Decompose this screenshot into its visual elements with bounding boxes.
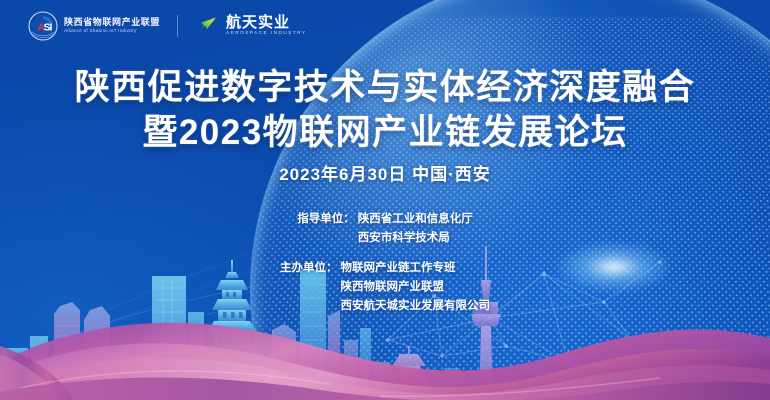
asi-alliance-emblem-icon: A S I: [28, 11, 58, 41]
asi-logo-text: 陕西省物联网产业联盟 Alliance of Shaanxi IoT Indus…: [64, 18, 160, 34]
date-location: 2023年6月30日 中国·西安: [0, 160, 770, 185]
header-logos: A S I 陕西省物联网产业联盟 Alliance of Shaanxi IoT…: [28, 11, 306, 41]
organizer-value: 陕西省工业和信息化厅: [358, 210, 473, 229]
organizers-block: 指导单位： 陕西省工业和信息化厅 西安市科学技术局 主办单位： 物联网产业链工作…: [0, 210, 770, 315]
organizer-value: 西安市科学技术局: [358, 229, 473, 248]
organizer-value: 物联网产业链工作专班: [341, 259, 491, 278]
organizer-value: 陕西物联网产业联盟: [341, 278, 491, 297]
organizer-label: 主办单位：: [280, 259, 338, 278]
aerospace-swoosh-icon: [195, 16, 219, 36]
aerospace-logo-text: 航天实业 AEROSPACE INDUSTRY: [226, 15, 306, 37]
page-title: 陕西促进数字技术与实体经济深度融合 暨2023物联网产业链发展论坛: [0, 66, 770, 156]
organizer-label: 指导单位：: [297, 210, 355, 229]
title-line-1: 陕西促进数字技术与实体经济深度融合: [75, 68, 696, 107]
organizer-values: 陕西省工业和信息化厅 西安市科学技术局: [358, 210, 473, 247]
title-line-2: 暨2023物联网产业链发展论坛: [0, 111, 770, 156]
asi-name-en: Alliance of Shaanxi IoT Industry: [64, 29, 160, 34]
aerospace-name-en: AEROSPACE INDUSTRY: [226, 32, 306, 37]
asi-name-cn: 陕西省物联网产业联盟: [64, 18, 160, 27]
svg-text:I: I: [50, 22, 53, 34]
poster-content: 陕西促进数字技术与实体经济深度融合 暨2023物联网产业链发展论坛 2023年6…: [0, 0, 770, 400]
organizer-values: 物联网产业链工作专班 陕西物联网产业联盟 西安航天城实业发展有限公司: [341, 259, 491, 315]
logo-asi-alliance[interactable]: A S I 陕西省物联网产业联盟 Alliance of Shaanxi IoT…: [28, 11, 160, 41]
aerospace-name-cn: 航天实业: [226, 15, 306, 30]
logo-aerospace-industry[interactable]: 航天实业 AEROSPACE INDUSTRY: [195, 15, 306, 37]
organizer-host: 主办单位： 物联网产业链工作专班 陕西物联网产业联盟 西安航天城实业发展有限公司: [280, 259, 490, 315]
organizer-value: 西安航天城实业发展有限公司: [341, 297, 491, 316]
logo-divider: [177, 15, 178, 37]
conference-poster: A S I 陕西省物联网产业联盟 Alliance of Shaanxi IoT…: [0, 0, 770, 400]
organizer-guidance: 指导单位： 陕西省工业和信息化厅 西安市科学技术局: [297, 210, 473, 247]
